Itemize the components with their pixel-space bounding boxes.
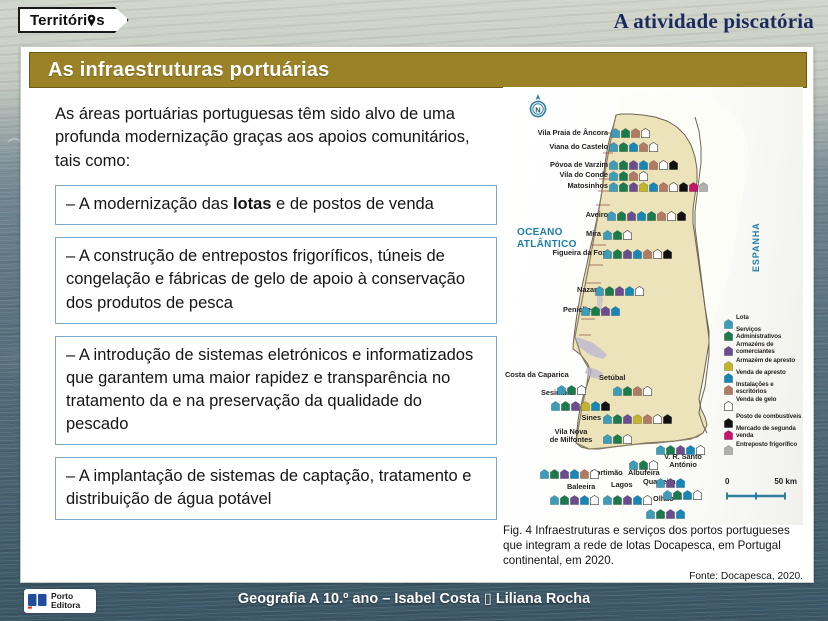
legend-swatch-icon (724, 358, 733, 368)
legend-label: Venda de gelo (736, 397, 776, 404)
port-symbol-icon (633, 411, 642, 421)
port-symbol-icon (609, 168, 618, 178)
intro-paragraph: As áreas portuárias portuguesas têm sido… (35, 99, 497, 173)
port-symbol-icon (601, 398, 610, 408)
port-symbol-icon (629, 157, 638, 167)
bullet-box-1: – A modernização das lotas e de postos d… (55, 185, 497, 225)
bullet-2-text: – A construção de entrepostos frigorífic… (66, 247, 465, 311)
port-symbol-icon (689, 179, 698, 189)
port-symbol-icon (580, 492, 589, 502)
port-label-aveiro: Aveiro (513, 211, 608, 219)
port-symbol-icon (656, 442, 665, 452)
footer-author-2: Liliana Rocha (496, 591, 590, 607)
port-symbol-icon (577, 382, 586, 392)
bullet-1-post: e de postos de venda (271, 195, 433, 213)
port-symbol-icon (571, 398, 580, 408)
port-symbol-icon (659, 179, 668, 189)
country-label-espanha: ESPANHA (751, 222, 761, 272)
port-symbol-icon (643, 411, 652, 421)
port-symbol-icon (617, 208, 626, 218)
port-symbol-icon (570, 492, 579, 502)
port-symbol-icon (623, 227, 632, 237)
port-symbol-icon (659, 157, 668, 167)
port-symbol-icon (693, 487, 702, 497)
legend-swatch-icon (724, 398, 733, 408)
port-symbol-icon (633, 492, 642, 502)
port-symbol-icon (603, 492, 612, 502)
port-symbol-icon (540, 466, 549, 476)
port-symbol-icon (629, 457, 638, 467)
port-symbol-icon (613, 383, 622, 393)
port-symbol-icon (629, 179, 638, 189)
port-symbol-icon (663, 246, 672, 256)
port-symbol-icon (633, 246, 642, 256)
port-symbol-icon (629, 139, 638, 149)
port-symbol-icon (639, 139, 648, 149)
slide-title-bar: As infraestruturas portuárias (29, 52, 807, 88)
port-symbol-icon (591, 398, 600, 408)
footer-separator: ▯ (484, 591, 492, 607)
port-symbol-icon (647, 208, 656, 218)
page-header: Territóris A atividade piscatória (0, 0, 828, 43)
legend-label: Entreposto frigorífico (736, 442, 797, 449)
port-icons-figueira-da-foz (603, 246, 672, 256)
port-symbol-icon (601, 303, 610, 313)
port-symbol-icon (607, 208, 616, 218)
port-icons-nazare (595, 283, 644, 293)
port-symbol-icon (570, 466, 579, 476)
legend-swatch-icon (724, 328, 733, 338)
port-symbol-icon (666, 475, 675, 485)
port-icons-viana-do-castelo (609, 139, 658, 149)
port-symbol-icon (603, 431, 612, 441)
port-symbol-icon (669, 157, 678, 167)
port-icons-olhao (663, 487, 702, 497)
port-symbol-icon (619, 168, 628, 178)
port-label-setubal: Setúbal (599, 374, 625, 382)
port-label-vila-do-conde: Vila do Conde (513, 171, 608, 179)
legend-item: Mercado de segunda venda (724, 426, 803, 440)
legend-swatch-icon (724, 370, 733, 380)
port-symbol-icon (653, 411, 662, 421)
scale-max: 50 km (774, 477, 797, 486)
bullet-1-pre: – A modernização das (66, 195, 233, 213)
port-symbol-icon (646, 506, 655, 516)
port-symbol-icon (621, 125, 630, 135)
legend-label: Mercado de segunda venda (736, 426, 803, 440)
legend-item: Serviços Administrativos (724, 327, 803, 341)
port-symbol-icon (623, 492, 632, 502)
bullet-box-2: – A construção de entrepostos frigorífic… (55, 237, 497, 323)
port-symbol-icon (613, 246, 622, 256)
page-footer: Porto Editora Geografia A 10.º ano – Isa… (0, 583, 828, 621)
legend-label: Armazéns de comerciantes (736, 342, 803, 356)
port-symbol-icon (613, 411, 622, 421)
port-symbol-icon (666, 506, 675, 516)
port-symbol-icon (609, 157, 618, 167)
port-symbol-icon (676, 506, 685, 516)
port-symbol-icon (656, 475, 665, 485)
map-figure: N OCEANO ATLÂNTICO ESPANHA Vila Praia de… (503, 87, 803, 577)
port-symbol-icon (611, 303, 620, 313)
bullet-box-3: – A introdução de sistemas eletrónicos e… (55, 336, 497, 445)
port-symbol-icon (677, 208, 686, 218)
port-symbol-icon (625, 283, 634, 293)
port-symbol-icon (643, 246, 652, 256)
slide-card: As infraestruturas portuárias As áreas p… (20, 46, 814, 583)
map-frame: N OCEANO ATLÂNTICO ESPANHA Vila Praia de… (503, 87, 803, 525)
port-symbol-icon (673, 487, 682, 497)
port-symbol-icon (603, 227, 612, 237)
port-symbol-icon (639, 457, 648, 467)
map-legend: LotaServiços AdministrativosArmazéns de … (724, 315, 803, 454)
port-symbol-icon (657, 208, 666, 218)
port-label-vila-nova-de-milfontes: Vila Novade Milfontes (547, 428, 595, 444)
bullet-1-bold: lotas (233, 195, 272, 213)
brand-label: Territóris (30, 12, 105, 29)
port-icons-vr-santo-antonio (656, 442, 705, 452)
port-symbol-icon (619, 157, 628, 167)
port-icons-aveiro (607, 208, 686, 218)
port-symbol-icon (667, 208, 676, 218)
port-symbol-icon (557, 382, 566, 392)
port-symbol-icon (550, 466, 559, 476)
port-symbol-icon (649, 457, 658, 467)
port-symbol-icon (591, 303, 600, 313)
port-symbol-icon (611, 125, 620, 135)
port-symbol-icon (641, 125, 650, 135)
legend-swatch-icon (724, 415, 733, 425)
port-symbol-icon (590, 466, 599, 476)
port-symbol-icon (609, 139, 618, 149)
legend-swatch-icon (724, 316, 733, 326)
port-label-baleeira: Baleeira (567, 483, 595, 491)
port-symbol-icon (633, 383, 642, 393)
port-symbol-icon (631, 125, 640, 135)
port-label-povoa-de-varzim: Póvoa de Varzim (513, 161, 608, 169)
port-symbol-icon (639, 168, 648, 178)
port-icons-sines (603, 411, 672, 421)
port-symbol-icon (623, 411, 632, 421)
port-symbol-icon (639, 157, 648, 167)
port-symbol-icon (619, 139, 628, 149)
port-icons-costa-da-caparica (557, 382, 586, 392)
port-symbol-icon (656, 506, 665, 516)
port-label-peniche: Peniche (513, 306, 591, 314)
port-symbol-icon (676, 475, 685, 485)
legend-label: Venda de apresto (736, 370, 786, 377)
port-symbol-icon (649, 157, 658, 167)
port-symbol-icon (696, 442, 705, 452)
port-symbol-icon (605, 283, 614, 293)
port-symbol-icon (649, 179, 658, 189)
port-symbol-icon (629, 168, 638, 178)
port-icons-povoa-de-varzim (609, 157, 678, 167)
port-symbol-icon (560, 466, 569, 476)
footer-credits: Geografia A 10.º ano – Isabel Costa ▯ Li… (0, 591, 828, 607)
port-symbol-icon (639, 179, 648, 189)
port-label-vila-praia-de-ancora: Vila Praia de Âncora (513, 129, 608, 137)
port-symbol-icon (581, 398, 590, 408)
port-symbol-icon (551, 398, 560, 408)
port-label-vr-santo-antonio: V. R. SantoAntónio (661, 453, 705, 469)
legend-swatch-icon (724, 343, 733, 353)
port-symbol-icon (603, 411, 612, 421)
port-symbol-icon (567, 382, 576, 392)
port-symbol-icon (663, 487, 672, 497)
port-symbol-icon (613, 431, 622, 441)
port-icons-sesimbra (551, 398, 610, 408)
brand-tag: Territóris (18, 7, 129, 33)
legend-item: Lota (724, 315, 803, 326)
port-label-nazare: Nazaré (513, 286, 601, 294)
port-symbol-icon (643, 383, 652, 393)
port-symbol-icon (623, 383, 632, 393)
footer-course: Geografia A 10.º ano – Isabel Costa (238, 591, 480, 607)
slide-title: As infraestruturas portuárias (30, 59, 329, 82)
port-icons-peniche (581, 303, 620, 313)
map-pin-icon (87, 14, 96, 27)
port-symbol-icon (669, 179, 678, 189)
legend-label: Posto de combustíveis (736, 414, 801, 421)
port-symbol-icon (676, 442, 685, 452)
legend-item: Posto de combustíveis (724, 414, 803, 425)
legend-item: Venda de apresto (724, 370, 803, 381)
compass-north-icon: N (525, 93, 551, 123)
port-label-costa-da-caparica: Costa da Caparica (505, 371, 569, 379)
port-symbol-icon (595, 283, 604, 293)
caption-text: Fig. 4 Infraestruturas e serviços dos po… (503, 524, 790, 567)
svg-text:N: N (535, 105, 540, 114)
figure-source: Fonte: Docapesca, 2020. (503, 570, 803, 583)
port-symbol-icon (613, 227, 622, 237)
legend-label: Armazém de apresto (736, 358, 795, 365)
port-symbol-icon (686, 442, 695, 452)
legend-swatch-icon (724, 442, 733, 452)
port-symbol-icon (581, 303, 590, 313)
port-symbol-icon (663, 411, 672, 421)
port-icons-olhao-second-row (646, 506, 685, 516)
port-icons-mira (603, 227, 632, 237)
port-icons-quarteira (656, 475, 685, 485)
port-label-sines: Sines (523, 414, 601, 422)
port-label-lagos: Lagos (611, 481, 633, 489)
legend-item: Entreposto frigorífico (724, 442, 803, 453)
port-symbol-icon (615, 283, 624, 293)
port-symbol-icon (609, 179, 618, 189)
port-symbol-icon (550, 492, 559, 502)
legend-item: Armazéns de comerciantes (724, 342, 803, 356)
chapter-title: A atividade piscatória (614, 9, 814, 34)
port-icons-portimao (540, 466, 599, 476)
port-label-albufeira: Albufeira (628, 469, 660, 477)
port-symbol-icon (623, 431, 632, 441)
port-symbol-icon (699, 179, 708, 189)
bullet-box-4: – A implantação de sistemas de captação,… (55, 457, 497, 520)
port-symbol-icon (637, 208, 646, 218)
port-icons-vila-do-conde (609, 168, 648, 178)
port-symbol-icon (623, 246, 632, 256)
port-label-figueira-da-foz: Figueira da Foz (513, 249, 606, 257)
port-symbol-icon (649, 139, 658, 149)
content-left-column: As áreas portuárias portuguesas têm sido… (35, 99, 497, 569)
port-symbol-icon (619, 179, 628, 189)
port-symbol-icon (590, 492, 599, 502)
port-icons-matosinhos (609, 179, 708, 189)
legend-item: Venda de gelo (724, 397, 803, 408)
port-icons-vila-praia-de-ancora (611, 125, 650, 135)
bullet-4-text: – A implantação de sistemas de captação,… (66, 467, 471, 508)
scale-min: 0 (725, 477, 729, 486)
port-symbol-icon (643, 492, 652, 502)
port-icons-baleeira (550, 492, 599, 502)
port-label-mira: Mira (513, 230, 601, 238)
figure-caption: Fig. 4 Infraestruturas e serviços dos po… (503, 523, 803, 583)
legend-label: Serviços Administrativos (736, 327, 803, 341)
scale-bar-graphic (725, 487, 797, 494)
port-symbol-icon (683, 487, 692, 497)
legend-swatch-icon (724, 427, 733, 437)
port-symbol-icon (635, 283, 644, 293)
port-symbol-icon (613, 492, 622, 502)
port-icons-lagos (603, 492, 652, 502)
bullet-3-text: – A introdução de sistemas eletrónicos e… (66, 346, 473, 433)
legend-label: Lota (736, 315, 749, 322)
port-symbol-icon (666, 442, 675, 452)
port-symbol-icon (561, 398, 570, 408)
map-scale-bar: 0 50 km (725, 477, 797, 494)
port-symbol-icon (603, 246, 612, 256)
port-symbol-icon (653, 246, 662, 256)
port-symbol-icon (580, 466, 589, 476)
legend-swatch-icon (724, 382, 733, 392)
port-symbol-icon (560, 492, 569, 502)
legend-item: Instalações e escritórios (724, 382, 803, 396)
port-icons-albufeira (629, 457, 658, 467)
legend-item: Armazém de apresto (724, 358, 803, 369)
port-icons-setubal (613, 383, 652, 393)
port-label-viana-do-castelo: Viana do Castelo (513, 143, 608, 151)
legend-label: Instalações e escritórios (736, 382, 803, 396)
port-icons-vila-nova-de-milfontes (603, 431, 632, 441)
port-label-matosinhos: Matosinhos (513, 182, 608, 190)
port-symbol-icon (679, 179, 688, 189)
port-symbol-icon (627, 208, 636, 218)
